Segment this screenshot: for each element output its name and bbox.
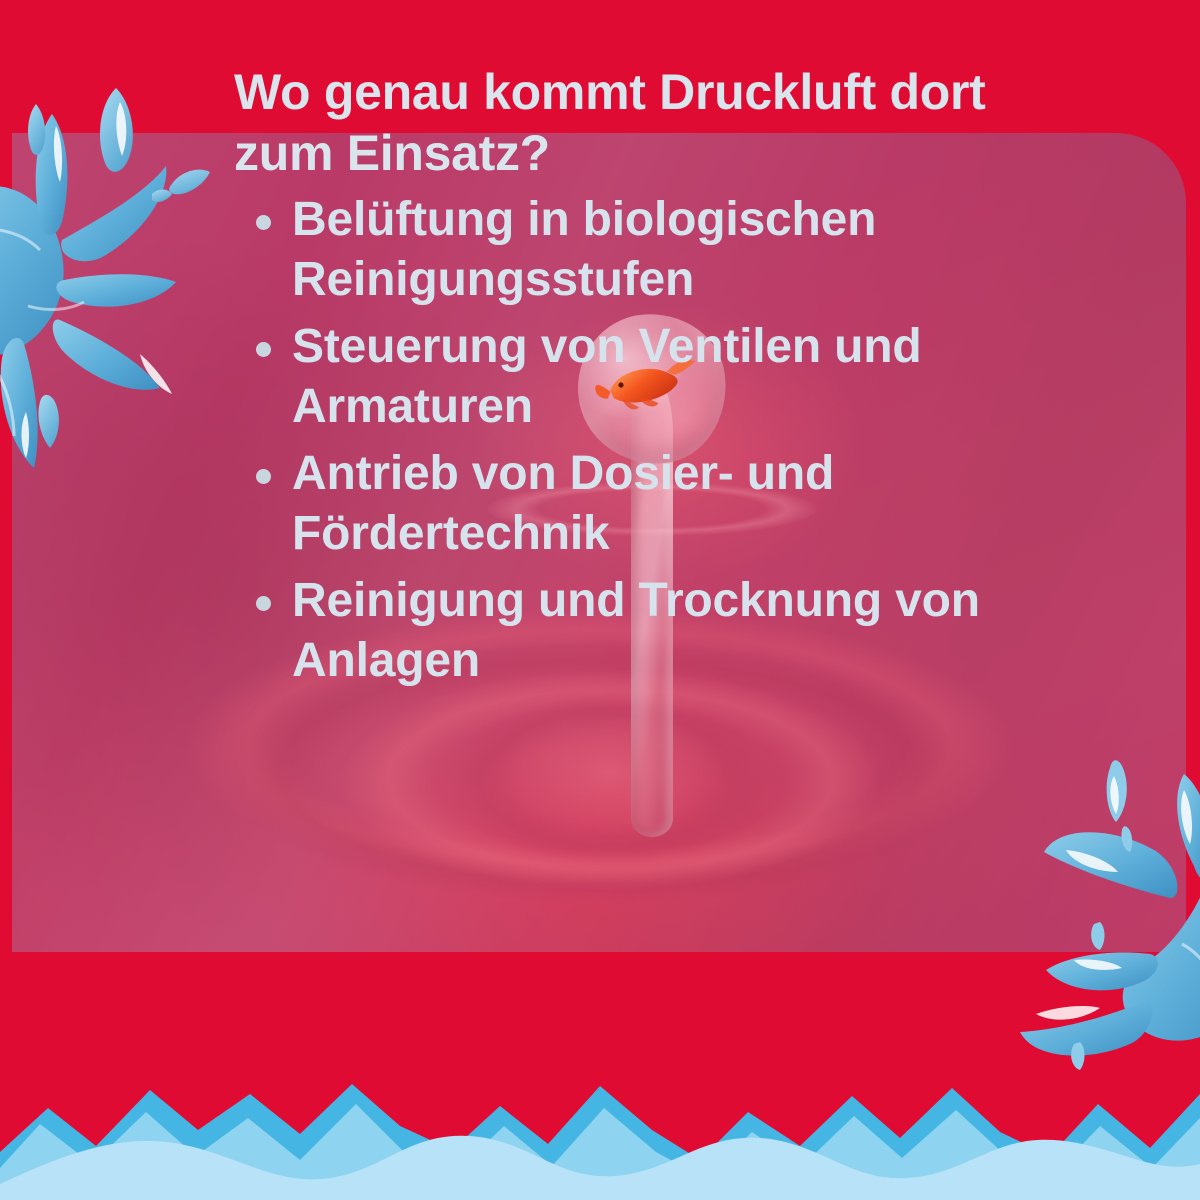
bullet-dot-icon [256,342,271,357]
list-item: Reinigung und Trocknung von Anlagen [234,571,1014,692]
benefit-list: Belüftung in biologischen Reinigungsstuf… [234,190,1014,692]
list-item-label: Belüftung in biologischen Reinigungsstuf… [292,193,876,306]
bullet-dot-icon [256,469,271,484]
bullet-dot-icon [256,215,271,230]
wave-band-icon [0,1060,1200,1200]
slide-canvas: Wo genau kommt Druckluft dort zum Einsat… [0,0,1200,1200]
water-splash-icon [0,44,244,514]
water-splash-icon [998,748,1200,1078]
list-item: Belüftung in biologischen Reinigungsstuf… [234,190,1014,311]
list-item-label: Steuerung von Ventilen und Armaturen [292,320,922,433]
text-block: Wo genau kommt Druckluft dort zum Einsat… [234,62,1014,698]
list-item-label: Reinigung und Trocknung von Anlagen [292,574,980,687]
list-item-label: Antrieb von Dosier- und Fördertechnik [292,447,834,560]
list-item: Steuerung von Ventilen und Armaturen [234,317,1014,438]
bullet-dot-icon [256,596,271,611]
page-title: Wo genau kommt Druckluft dort zum Einsat… [234,62,1014,184]
list-item: Antrieb von Dosier- und Fördertechnik [234,444,1014,565]
